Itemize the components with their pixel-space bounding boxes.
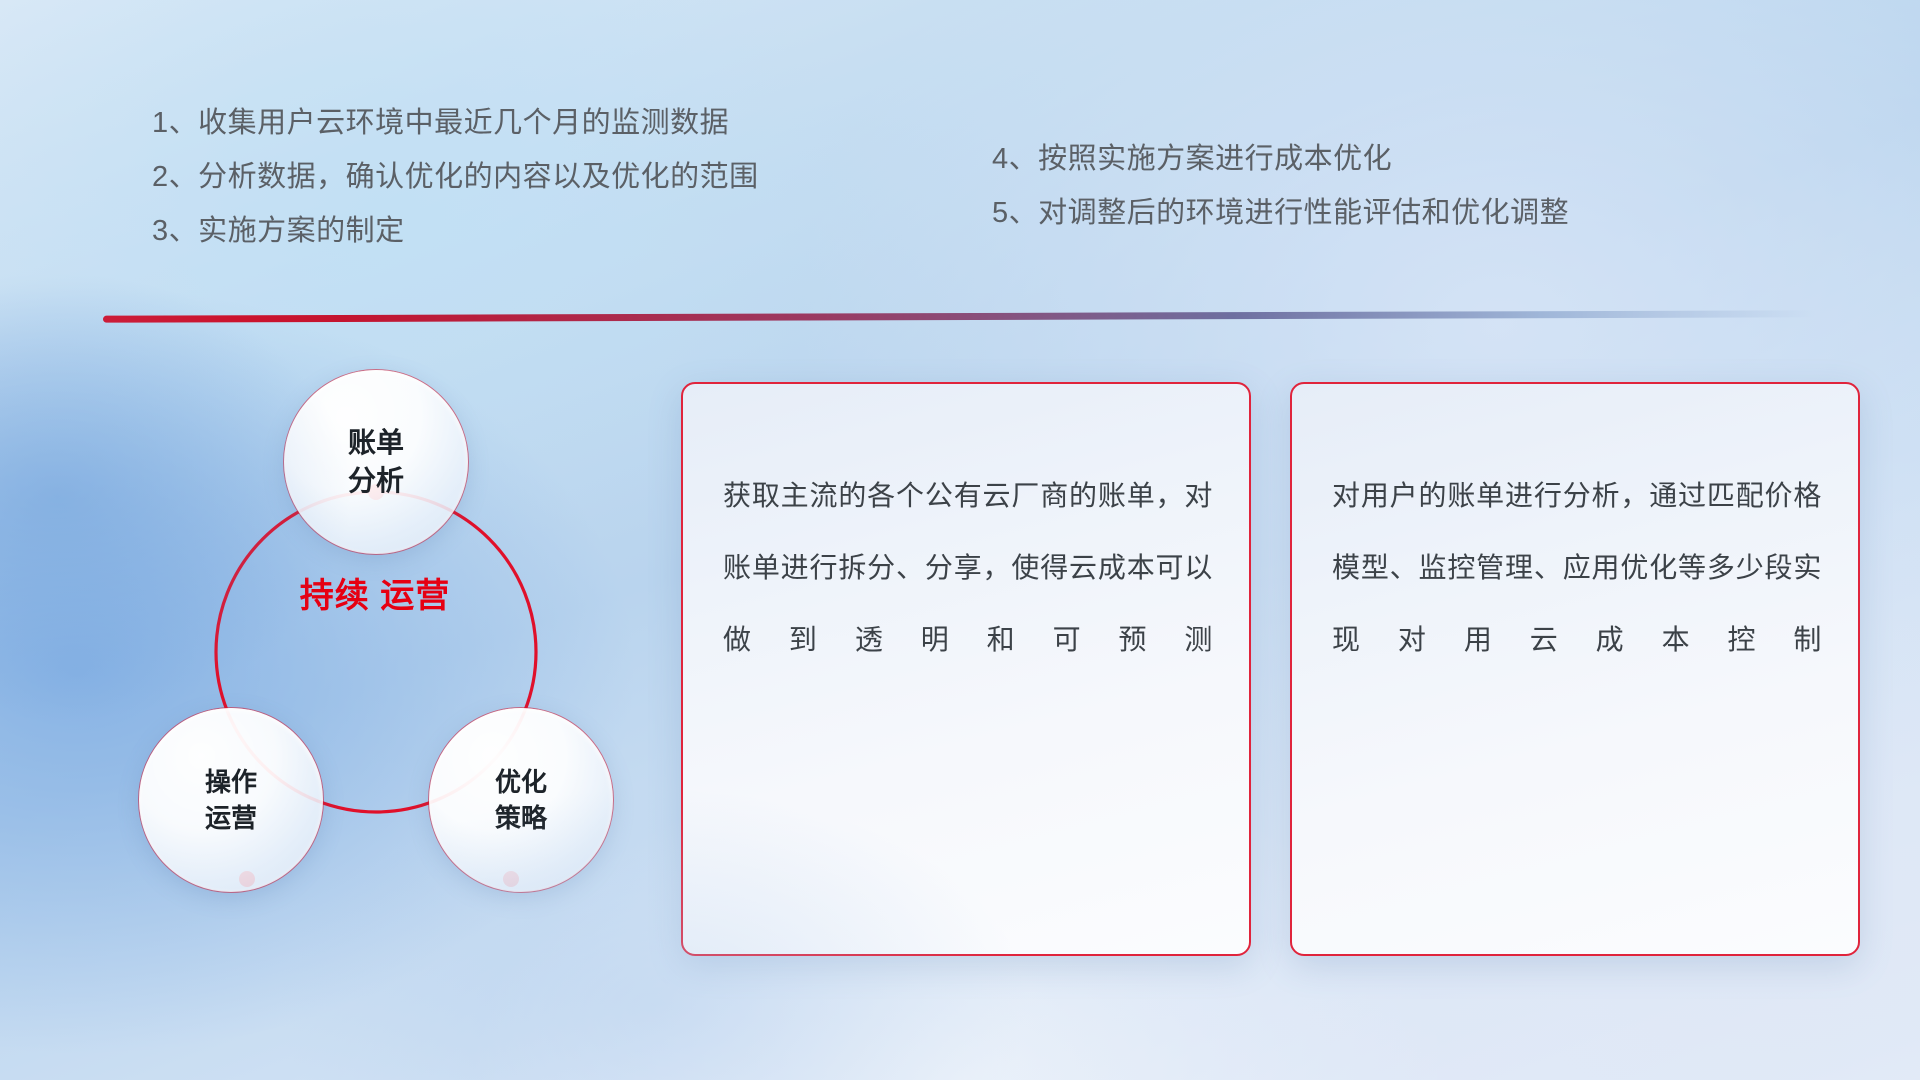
header-divider-rule (103, 310, 1815, 322)
step-item-3: 3、实施方案的制定 (152, 204, 759, 258)
venn-bubble-operations[interactable]: 操作 运营 (139, 708, 323, 892)
venn-bubble-optimization-strategy[interactable]: 优化 策略 (429, 708, 613, 892)
venn-center-label-line2: 运营 (380, 577, 450, 615)
card-1-body-text: 获取主流的各个公有云厂商的账单，对账单进行拆分、分享，使得云成本可以做到透明和可… (723, 460, 1213, 676)
venn-center-label: 持续 运营 (295, 574, 455, 619)
card-cloud-cost-optimization[interactable]: 对用户的账单进行分析，通过匹配价格模型、监控管理、应用优化等多少段实现对用云成本… (1290, 382, 1860, 956)
venn-center-label-line1: 持续 (300, 577, 370, 615)
venn-bubble-optimization-strategy-line2: 策略 (495, 800, 547, 836)
card-multi-cloud-billing-platform[interactable]: 获取主流的各个公有云厂商的账单，对账单进行拆分、分享，使得云成本可以做到透明和可… (681, 382, 1251, 956)
step-item-4: 4、按照实施方案进行成本优化 (992, 132, 1569, 186)
card-2-body-text: 对用户的账单进行分析，通过匹配价格模型、监控管理、应用优化等多少段实现对用云成本… (1332, 460, 1822, 676)
slide-canvas: 1、收集用户云环境中最近几个月的监测数据 2、分析数据，确认优化的内容以及优化的… (0, 0, 1920, 1080)
step-item-2: 2、分析数据，确认优化的内容以及优化的范围 (152, 150, 759, 204)
venn-bubble-bill-analysis[interactable]: 账单 分析 (284, 370, 468, 554)
venn-diagram: 账单 分析 操作 运营 优化 策略 持续 运营 (95, 352, 635, 952)
step-item-5: 5、对调整后的环境进行性能评估和优化调整 (992, 186, 1569, 240)
venn-bubble-optimization-strategy-line1: 优化 (495, 764, 547, 800)
step-item-1: 1、收集用户云环境中最近几个月的监测数据 (152, 96, 759, 150)
venn-bubble-bill-analysis-line1: 账单 (348, 424, 404, 462)
steps-section: 1、收集用户云环境中最近几个月的监测数据 2、分析数据，确认优化的内容以及优化的… (0, 96, 1920, 276)
venn-bubble-operations-line2: 运营 (205, 800, 257, 836)
steps-column-right: 4、按照实施方案进行成本优化 5、对调整后的环境进行性能评估和优化调整 (992, 132, 1569, 240)
venn-bubble-operations-line1: 操作 (205, 764, 257, 800)
venn-bubble-bill-analysis-line2: 分析 (348, 462, 404, 500)
steps-column-left: 1、收集用户云环境中最近几个月的监测数据 2、分析数据，确认优化的内容以及优化的… (152, 96, 759, 258)
